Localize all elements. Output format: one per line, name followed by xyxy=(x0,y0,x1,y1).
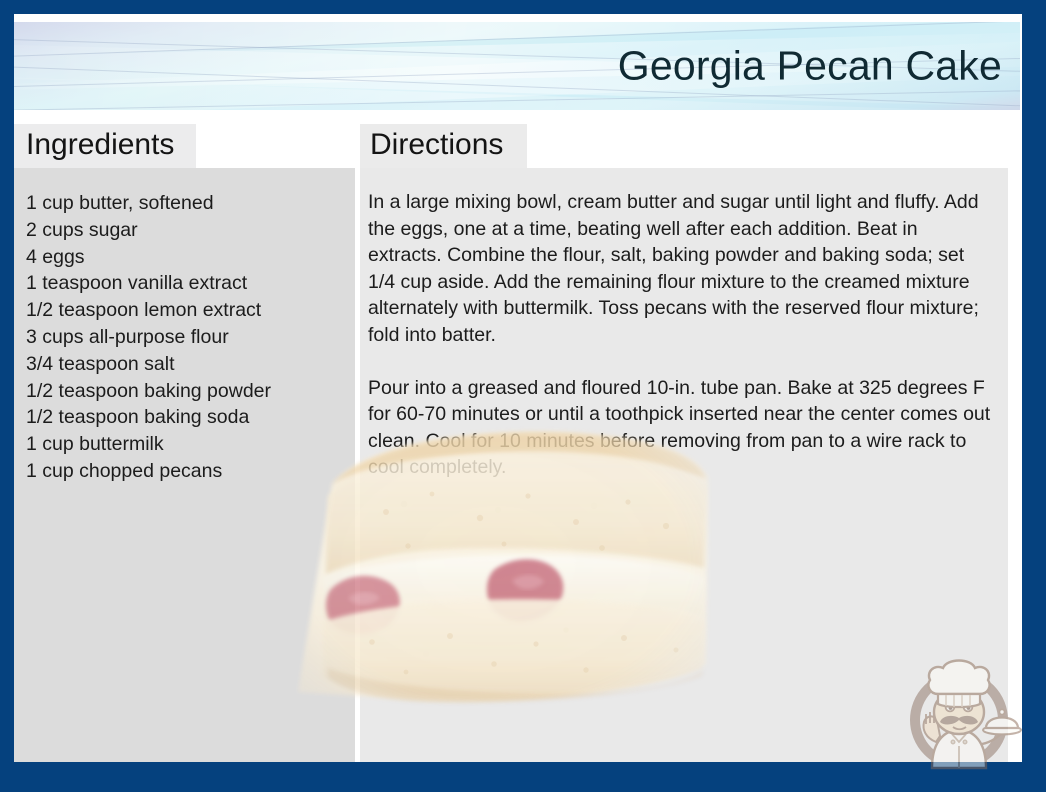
ingredient-item: 1 cup buttermilk xyxy=(26,431,355,458)
header-banner: Georgia Pecan Cake xyxy=(14,22,1020,110)
ingredient-item: 1/2 teaspoon baking soda xyxy=(26,404,355,431)
ingredient-item: 4 eggs xyxy=(26,244,355,271)
recipe-card-frame: Georgia Pecan Cake Ingredients 1 cup but… xyxy=(0,0,1046,792)
directions-heading: Directions xyxy=(360,124,527,168)
ingredient-item: 1 teaspoon vanilla extract xyxy=(26,270,355,297)
ingredient-item: 1 cup butter, softened xyxy=(26,190,355,217)
ingredients-list: 1 cup butter, softened2 cups sugar4 eggs… xyxy=(26,190,355,485)
ingredient-item: 1/2 teaspoon baking powder xyxy=(26,378,355,405)
direction-paragraph: In a large mixing bowl, cream butter and… xyxy=(368,189,994,349)
direction-paragraph: Pour into a greased and floured 10-in. t… xyxy=(368,375,994,481)
ingredients-heading: Ingredients xyxy=(14,124,196,168)
ingredient-item: 1/2 teaspoon lemon extract xyxy=(26,297,355,324)
ingredient-item: 1 cup chopped pecans xyxy=(26,458,355,485)
ingredient-item: 2 cups sugar xyxy=(26,217,355,244)
page-title: Georgia Pecan Cake xyxy=(618,43,1002,90)
ingredients-panel: 1 cup butter, softened2 cups sugar4 eggs… xyxy=(14,168,355,762)
directions-panel: In a large mixing bowl, cream butter and… xyxy=(360,168,1008,762)
ingredient-item: 3 cups all-purpose flour xyxy=(26,324,355,351)
ingredient-item: 3/4 teaspoon salt xyxy=(26,351,355,378)
